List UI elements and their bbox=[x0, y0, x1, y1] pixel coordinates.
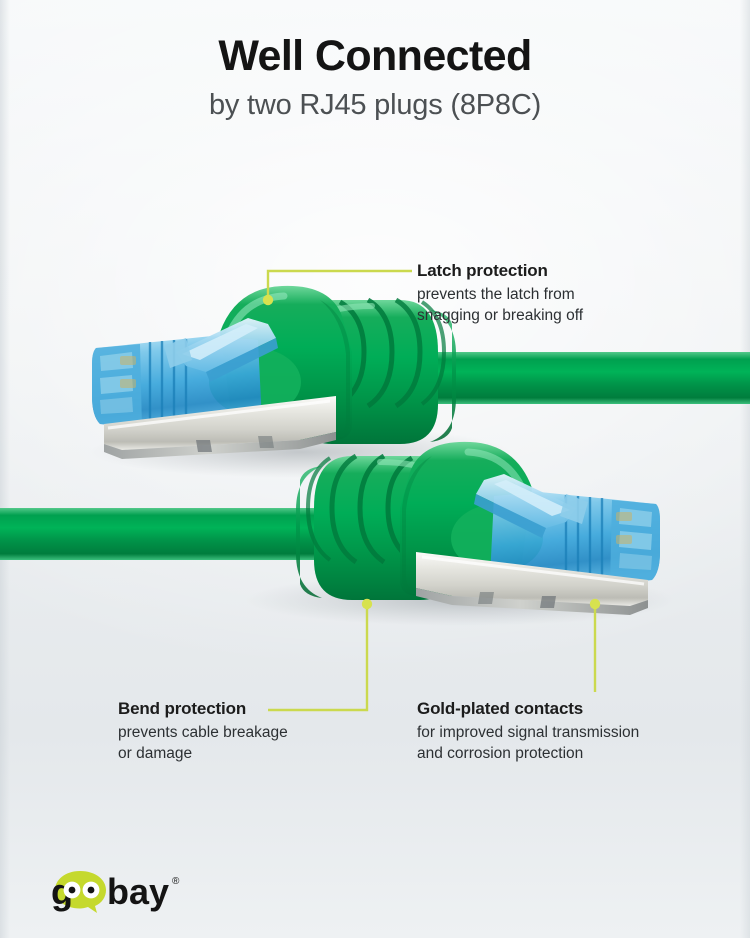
callout-bend-protection: Bend protection prevents cable breakage … bbox=[118, 699, 288, 765]
page-subtitle: by two RJ45 plugs (8P8C) bbox=[0, 87, 750, 123]
logo-word-bay: bay bbox=[107, 871, 169, 912]
background-edge-shading bbox=[0, 0, 750, 938]
background-gradient bbox=[0, 0, 750, 938]
leader-dot-gold bbox=[590, 599, 600, 609]
page-title: Well Connected bbox=[0, 34, 750, 79]
callout-latch-line-2: snagging or breaking off bbox=[417, 305, 583, 326]
plug-top-shadow bbox=[90, 426, 510, 478]
latch-bottom bbox=[474, 474, 588, 538]
callout-bend-title: Bend protection bbox=[118, 699, 288, 719]
callout-bend-line-1: prevents cable breakage bbox=[118, 722, 288, 743]
metal-shield-bottom bbox=[416, 552, 648, 615]
gold-contacts-bottom bbox=[616, 512, 632, 544]
callout-leader-dots bbox=[263, 295, 600, 609]
plug-bottom-housing bbox=[490, 492, 660, 588]
latch-top bbox=[164, 318, 278, 382]
callout-leader-lines bbox=[268, 271, 595, 710]
goobay-logo: g bay ® bbox=[52, 868, 192, 914]
product-illustration bbox=[0, 0, 750, 938]
callout-gold-line-2: and corrosion protection bbox=[417, 743, 639, 764]
callout-gold-title: Gold-plated contacts bbox=[417, 699, 639, 719]
infographic-page: Well Connected by two RJ45 plugs (8P8C) bbox=[0, 0, 750, 938]
metal-shield-top bbox=[104, 396, 336, 459]
rj45-plug-bottom bbox=[0, 442, 675, 626]
leader-dot-latch bbox=[263, 295, 273, 305]
plug-bottom-shadow bbox=[245, 574, 675, 626]
plug-top-housing bbox=[92, 336, 262, 432]
leader-line-bend bbox=[268, 606, 367, 710]
callout-latch-line-1: prevents the latch from bbox=[417, 284, 583, 305]
callout-gold-line-1: for improved signal transmission bbox=[417, 722, 639, 743]
cable-top bbox=[420, 352, 750, 404]
cable-bottom bbox=[0, 508, 340, 560]
callout-bend-line-2: or damage bbox=[118, 743, 288, 764]
callout-latch-protection: Latch protection prevents the latch from… bbox=[417, 261, 583, 327]
leader-dot-bend bbox=[362, 599, 372, 609]
callout-latch-title: Latch protection bbox=[417, 261, 583, 281]
header: Well Connected by two RJ45 plugs (8P8C) bbox=[0, 34, 750, 123]
bend-protection-boot-bottom bbox=[296, 456, 452, 600]
plug-bottom-inner-core bbox=[451, 504, 543, 572]
plug-top-inner-core bbox=[209, 348, 301, 416]
gold-contacts-top bbox=[120, 356, 136, 388]
latch-protection-hood-top bbox=[220, 286, 352, 440]
leader-line-latch bbox=[268, 271, 412, 300]
callout-gold-plated-contacts: Gold-plated contacts for improved signal… bbox=[417, 699, 639, 765]
latch-protection-hood-bottom bbox=[400, 442, 532, 596]
logo-registered-mark: ® bbox=[172, 876, 180, 887]
